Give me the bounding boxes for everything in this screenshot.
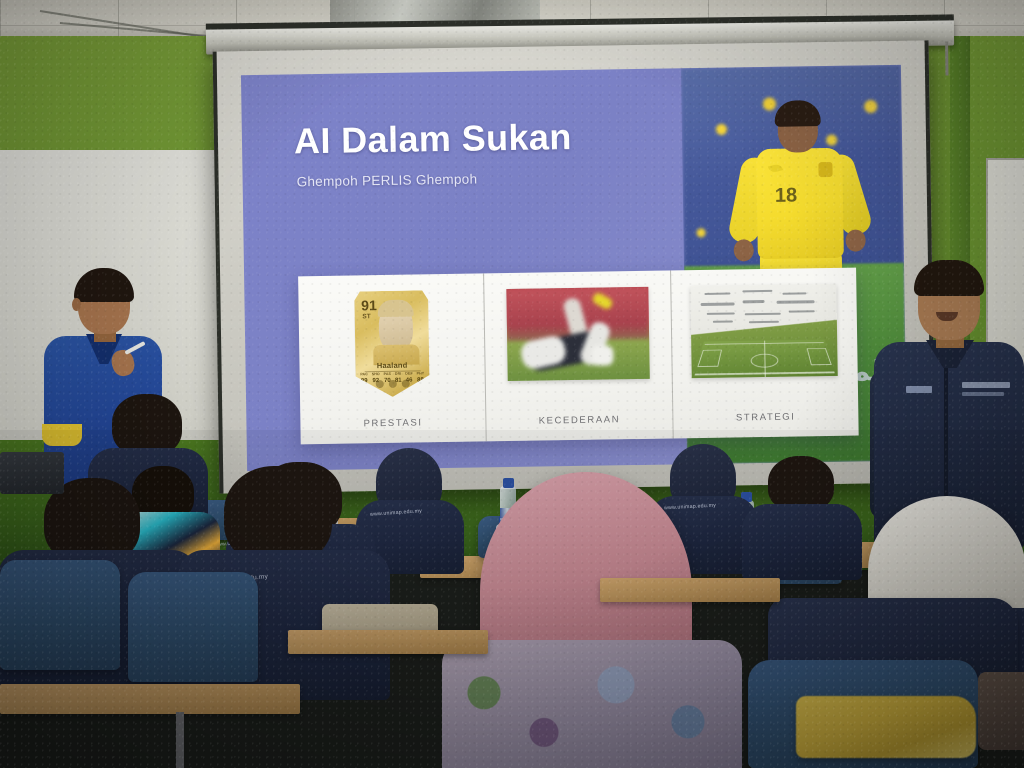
- card-label-strategi: STRATEGI: [673, 411, 858, 425]
- fifa-player-card: 91 ST Haaland PAC89 SHO92 PAS70 DRI81 DE…: [354, 290, 430, 397]
- card-rating: 91: [361, 298, 377, 312]
- monitor[interactable]: [0, 452, 64, 494]
- chair-front-left[interactable]: [0, 560, 120, 670]
- student-body: [742, 504, 862, 580]
- slide-subtitle: Ghempoh PERLIS Ghempoh: [297, 172, 478, 190]
- screen-pull-cord[interactable]: [945, 42, 948, 76]
- presenter-left-ear: [72, 298, 81, 311]
- pitch-center-circle: [751, 354, 780, 368]
- handwriting-mark: [713, 321, 733, 323]
- presenter-left-sleeve-trim: [42, 424, 82, 446]
- club-badge-icon: [375, 380, 383, 388]
- pitch-penalty-box-right: [807, 348, 832, 365]
- card-player-name: Haaland: [355, 360, 429, 370]
- student-head: [112, 394, 182, 456]
- handwriting-mark: [743, 300, 765, 303]
- stat-key: DRI: [395, 373, 402, 377]
- floral-garment: [442, 640, 742, 768]
- stat-key: PAS: [384, 373, 391, 377]
- chair-front-mid[interactable]: [128, 572, 258, 682]
- shirt-logo-right: [962, 382, 1010, 388]
- card-badges: [355, 379, 429, 388]
- tactics-pitch: [692, 340, 838, 378]
- card-label-kecederaan: KECEDERAAN: [487, 413, 672, 427]
- card-kecederaan: KECEDERAAN: [483, 270, 672, 441]
- desk-front-right: [600, 578, 780, 602]
- desk-front-mid: [288, 630, 488, 654]
- pitch-penalty-box-left: [698, 350, 723, 368]
- handbag[interactable]: [978, 672, 1024, 750]
- slide-card-panel: 91 ST Haaland PAC89 SHO92 PAS70 DRI81 DE…: [298, 268, 859, 445]
- presentation-slide: الم 18 18: [241, 65, 907, 471]
- player-hand-left: [734, 239, 754, 261]
- handwriting-mark: [749, 321, 779, 323]
- handwriting-mark: [705, 293, 731, 295]
- league-badge-icon: [401, 380, 409, 388]
- card-player-hair: [377, 300, 413, 318]
- stat-key: PHY: [417, 372, 425, 376]
- projector-screen: الم 18 18: [213, 40, 936, 493]
- presenter-left-hair: [74, 268, 134, 302]
- tactics-photo: [691, 284, 838, 378]
- stat-key: SHO: [372, 373, 380, 377]
- shirt-logo-left: [906, 386, 932, 393]
- player-jersey-number: 18: [775, 184, 798, 207]
- handwriting-mark: [701, 302, 735, 306]
- yellow-plastic-bag[interactable]: [796, 696, 976, 758]
- handwriting-mark: [783, 292, 807, 294]
- student-right-back: [742, 456, 862, 566]
- card-position: ST: [362, 313, 370, 320]
- shirt-logo-subtext: [962, 392, 1004, 396]
- slide-title: AI Dalam Sukan: [294, 116, 572, 162]
- handwriting-mark: [743, 290, 773, 292]
- injury-photo-blur: [506, 287, 649, 381]
- stat-key: PAC: [360, 373, 368, 377]
- card-prestasi: 91 ST Haaland PAC89 SHO92 PAS70 DRI81 DE…: [298, 273, 486, 444]
- handwriting-mark: [707, 312, 735, 314]
- card-strategi: STRATEGI: [670, 268, 859, 439]
- injury-player-sock: [591, 345, 613, 365]
- handwriting-mark: [745, 313, 781, 316]
- tactics-notes: [691, 284, 838, 330]
- team-crest-icon: [818, 162, 832, 177]
- desk-front-left: [0, 684, 300, 714]
- desk-leg: [176, 712, 184, 768]
- injury-photo: [506, 287, 649, 381]
- ceiling-vent: [330, 0, 540, 22]
- student-foreground-pink-hijab: [452, 472, 722, 768]
- nation-flag-icon: [388, 380, 396, 388]
- player-hair: [774, 100, 820, 127]
- card-label-prestasi: PRESTASI: [300, 416, 485, 430]
- stat-key: DEF: [405, 373, 413, 377]
- classroom-scene: الم 18 18: [0, 0, 1024, 768]
- handwriting-mark: [789, 310, 815, 312]
- player-hand-right: [845, 229, 865, 251]
- presenter-right-hair: [914, 260, 984, 296]
- handwriting-mark: [777, 300, 815, 304]
